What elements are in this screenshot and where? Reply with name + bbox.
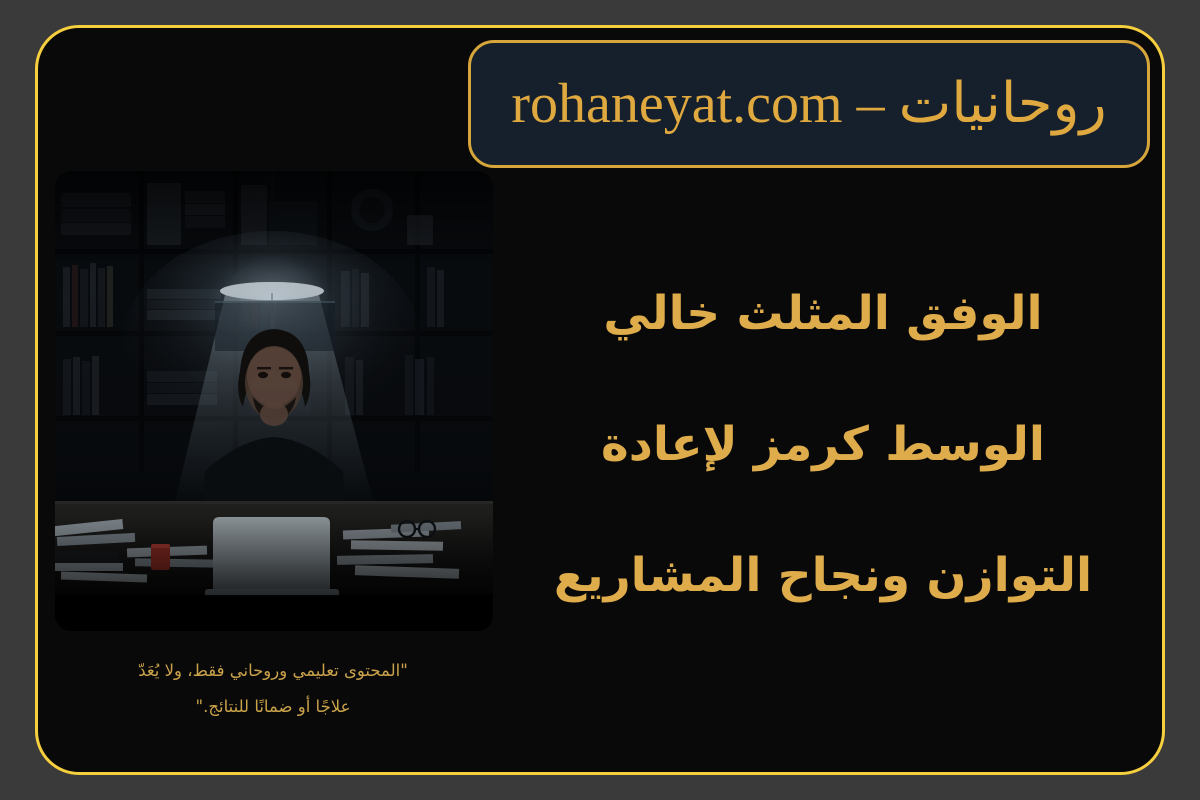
site-brand-label: روحانيات – rohaneyat.com <box>511 75 1106 134</box>
disclaimer: "المحتوى تعليمي وروحاني فقط، ولا يُعَدّ … <box>58 653 488 725</box>
title-line-2: الوسط كرمز لإعادة <box>493 379 1153 510</box>
disclaimer-line-1: "المحتوى تعليمي وروحاني فقط، ولا يُعَدّ <box>58 653 488 689</box>
disclaimer-line-2: علاجًا أو ضمانًا للنتائج." <box>58 689 488 725</box>
outer-frame: الوفق المثلث خالي الوسط كرمز لإعادة التو… <box>0 0 1200 800</box>
title-line-3: التوازن ونجاح المشاريع <box>493 510 1153 641</box>
photo-illustration <box>55 171 493 631</box>
dark-study-desk-photo <box>55 171 493 631</box>
site-brand-badge[interactable]: روحانيات – rohaneyat.com <box>468 40 1150 168</box>
page-title: الوفق المثلث خالي الوسط كرمز لإعادة التو… <box>493 248 1153 641</box>
title-line-1: الوفق المثلث خالي <box>493 248 1153 379</box>
